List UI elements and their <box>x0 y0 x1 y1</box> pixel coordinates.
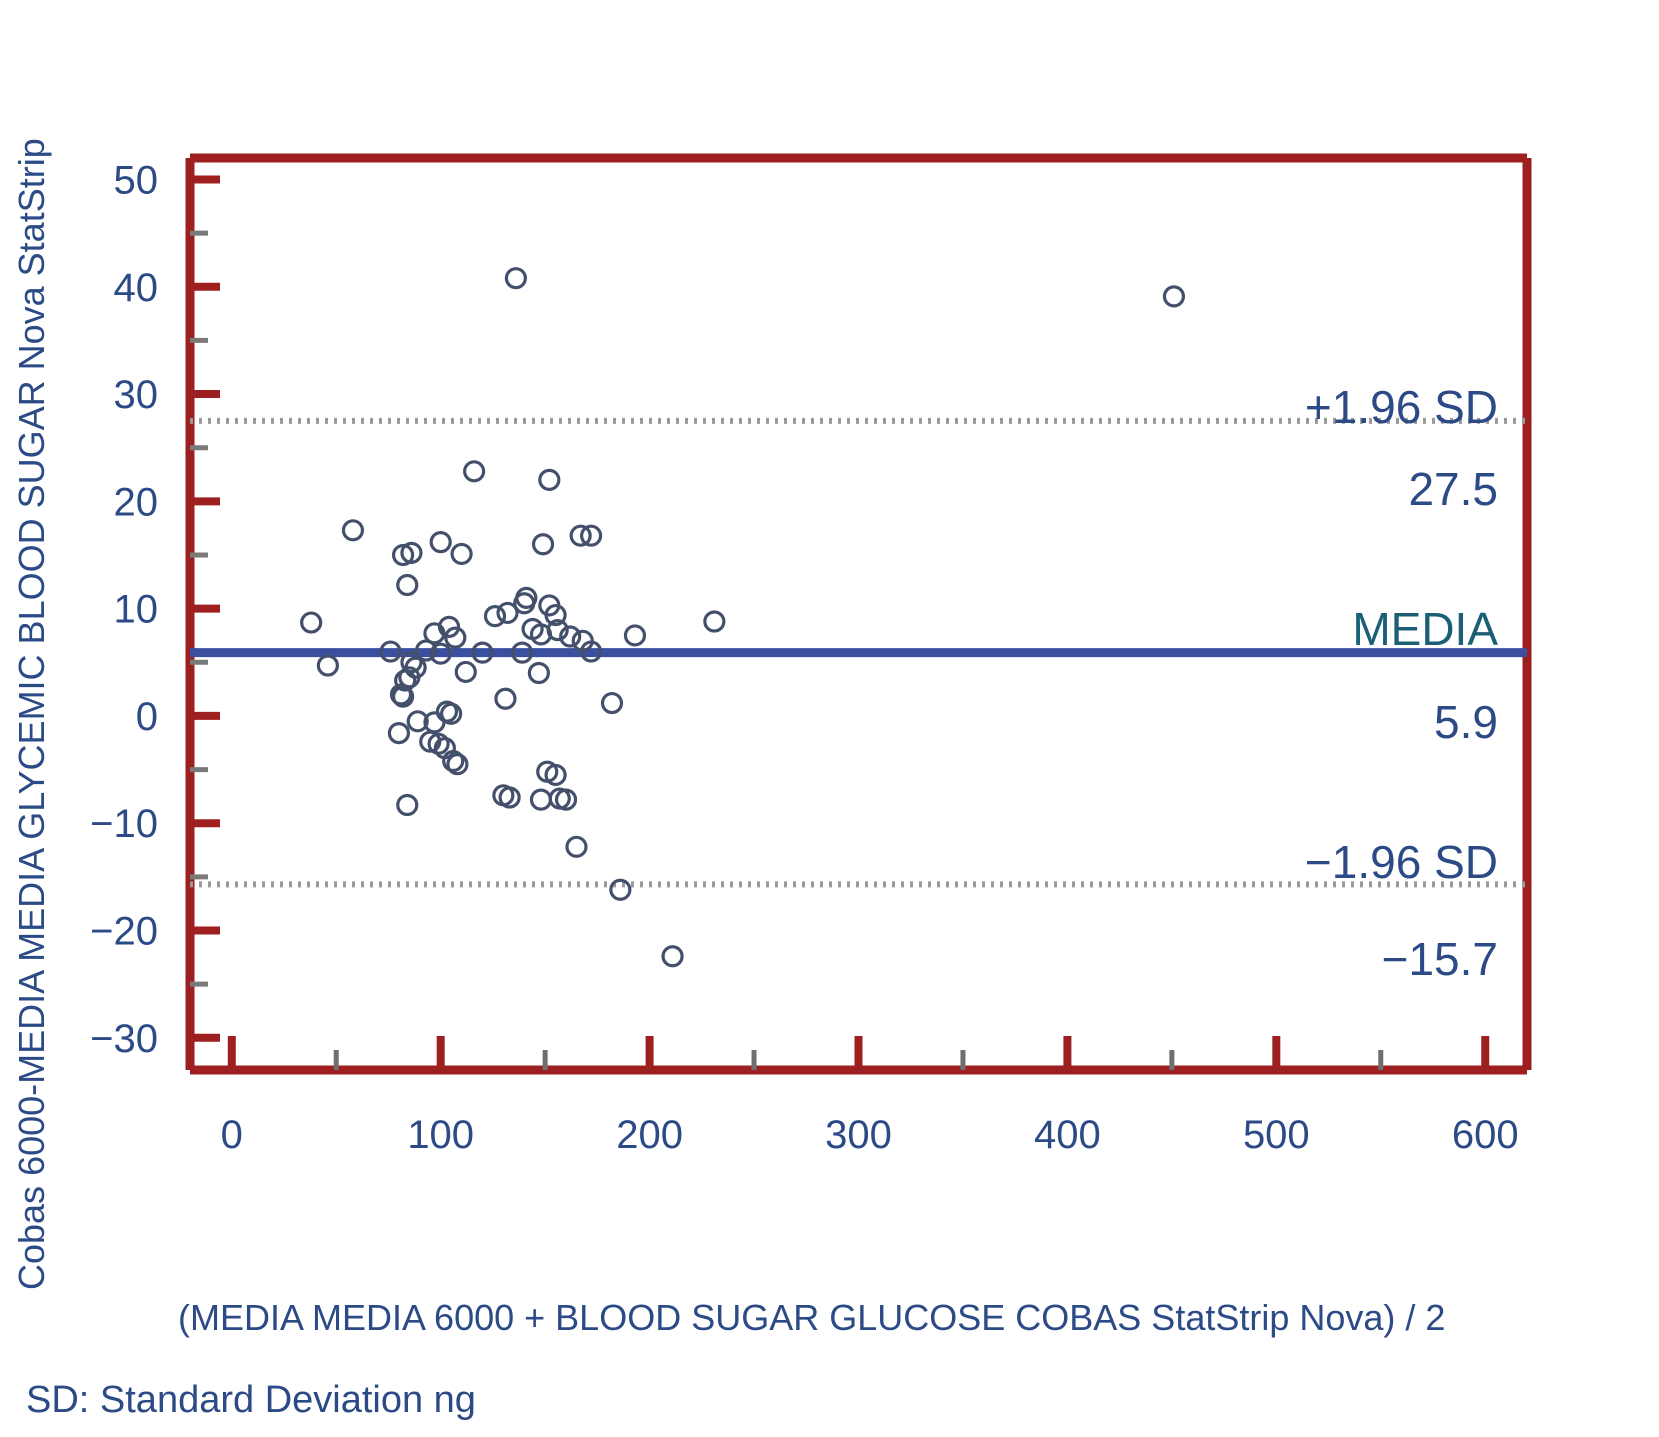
y-tick-label: 50 <box>114 158 159 202</box>
x-tick-label: 600 <box>1452 1113 1519 1157</box>
y-tick-label: 20 <box>114 480 159 524</box>
y-tick-label: −10 <box>90 802 158 846</box>
footnote: SD: Standard Deviation ng <box>26 1379 476 1421</box>
x-axis-title: (MEDIA MEDIA 6000 + BLOOD SUGAR GLUCOSE … <box>178 1297 1445 1338</box>
y-tick-label: 40 <box>114 266 159 310</box>
x-tick-label: 500 <box>1243 1113 1310 1157</box>
y-tick-label: −30 <box>90 1017 158 1061</box>
lower-loa-label: −1.96 SD <box>1305 836 1498 888</box>
x-tick-label: 400 <box>1034 1113 1101 1157</box>
mean-label: MEDIA <box>1352 603 1498 655</box>
x-tick-label: 100 <box>407 1113 474 1157</box>
chart-background <box>0 0 1659 1437</box>
y-axis-title: Cobas 6000-MEDIA MEDIA GLYCEMIC BLOOD SU… <box>11 138 52 1290</box>
bland-altman-chart: −30−20−1001020304050 0100200300400500600… <box>0 0 1659 1437</box>
figure-root: −30−20−1001020304050 0100200300400500600… <box>0 0 1659 1437</box>
x-tick-label: 300 <box>825 1113 892 1157</box>
y-tick-label: 30 <box>114 373 159 417</box>
x-tick-label: 200 <box>616 1113 683 1157</box>
y-tick-label: 0 <box>136 695 158 739</box>
y-tick-label: 10 <box>114 588 159 632</box>
mean-value: 5.9 <box>1434 696 1498 748</box>
y-tick-label: −20 <box>90 910 158 954</box>
upper-loa-label: +1.96 SD <box>1305 381 1498 433</box>
x-tick-label: 0 <box>221 1113 243 1157</box>
lower-loa-value: −15.7 <box>1382 933 1498 985</box>
upper-loa-value: 27.5 <box>1408 463 1498 515</box>
